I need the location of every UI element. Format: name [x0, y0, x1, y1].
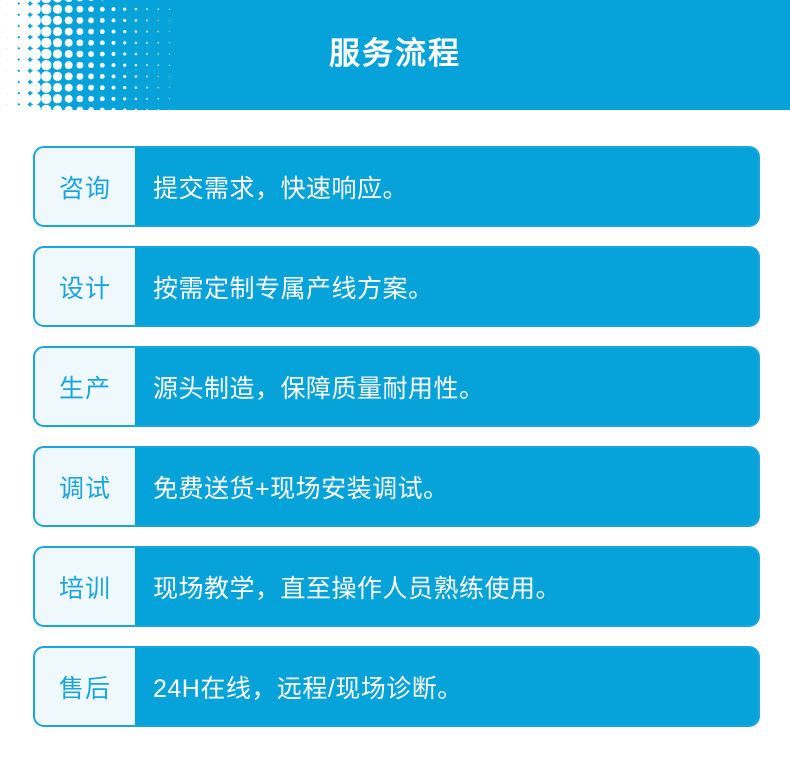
- process-step-row[interactable]: 设计 按需定制专属产线方案。: [33, 246, 760, 327]
- process-step-list: 咨询 提交需求，快速响应。 设计 按需定制专属产线方案。 生产 源头制造，保障质…: [33, 146, 760, 727]
- step-label-badge: 设计: [35, 248, 135, 325]
- step-label-badge: 售后: [35, 648, 135, 725]
- page-title: 服务流程: [0, 0, 790, 110]
- service-process-poster: 服务流程 咨询 提交需求，快速响应。 设计 按需定制专属产线方案。 生产 源头制…: [0, 0, 790, 759]
- process-step-row[interactable]: 调试 免费送货+现场安装调试。: [33, 446, 760, 527]
- process-step-row[interactable]: 生产 源头制造，保障质量耐用性。: [33, 346, 760, 427]
- step-description: 24H在线，远程/现场诊断。: [135, 648, 758, 725]
- step-description: 免费送货+现场安装调试。: [135, 448, 758, 525]
- process-step-row[interactable]: 咨询 提交需求，快速响应。: [33, 146, 760, 227]
- header-banner: 服务流程: [0, 0, 790, 110]
- step-label-badge: 生产: [35, 348, 135, 425]
- step-description: 按需定制专属产线方案。: [135, 248, 758, 325]
- step-label-badge: 培训: [35, 548, 135, 625]
- process-step-row[interactable]: 培训 现场教学，直至操作人员熟练使用。: [33, 546, 760, 627]
- step-description: 提交需求，快速响应。: [135, 148, 758, 225]
- process-step-row[interactable]: 售后 24H在线，远程/现场诊断。: [33, 646, 760, 727]
- step-description: 源头制造，保障质量耐用性。: [135, 348, 758, 425]
- step-label-badge: 调试: [35, 448, 135, 525]
- step-label-badge: 咨询: [35, 148, 135, 225]
- step-description: 现场教学，直至操作人员熟练使用。: [135, 548, 758, 625]
